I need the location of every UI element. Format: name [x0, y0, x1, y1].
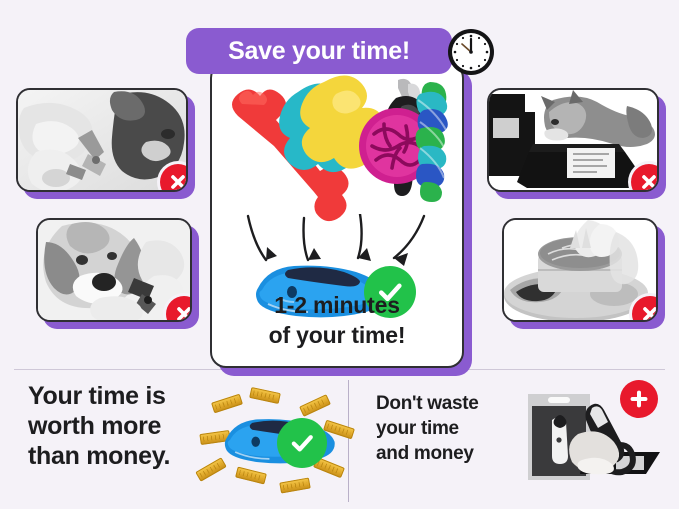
bottom-right-caption: Don't waste your time and money [376, 391, 479, 466]
close-icon [174, 304, 192, 322]
center-card-caption: 1-2 minutes of your time! [212, 290, 462, 350]
bottom-right-line2: your time [376, 416, 479, 441]
green-check-icon [288, 429, 316, 457]
gold-money-bill [279, 477, 310, 493]
close-icon [640, 304, 658, 322]
photo-card-top-right [487, 88, 659, 192]
multicolor-rope-toy [408, 78, 462, 202]
center-card: 1-2 minutes of your time! [210, 62, 464, 368]
analog-clock-icon [446, 27, 496, 77]
bottom-left-line1: Your time is [28, 381, 170, 411]
photo-card-bottom-right [502, 218, 658, 322]
infographic-canvas: 1-2 minutes of your time! Save your time… [0, 0, 679, 509]
bottom-left-caption: Your time is worth more than money. [28, 381, 170, 471]
bottom-right-line3: and money [376, 441, 479, 466]
title-banner: Save your time! [186, 28, 452, 74]
bottom-left-line3: than money. [28, 441, 170, 471]
bottom-right-line1: Don't waste [376, 391, 479, 416]
photo-card-bottom-left [36, 218, 192, 322]
center-caption-line1: 1-2 minutes [212, 290, 462, 320]
gold-money-bill [249, 387, 281, 404]
page-title: Save your time! [228, 37, 410, 66]
plus-icon [628, 388, 650, 410]
green-check-badge-bottom [277, 418, 327, 468]
horizontal-divider [14, 369, 665, 370]
close-icon [639, 172, 659, 192]
gold-money-bill [235, 467, 267, 485]
close-icon [168, 172, 188, 192]
bottom-left-line2: worth more [28, 411, 170, 441]
gold-money-bill [211, 394, 243, 414]
photo-card-top-left [16, 88, 188, 192]
plus-badge-bottom-right [620, 380, 658, 418]
center-caption-line2: of your time! [212, 320, 462, 350]
vertical-divider [348, 380, 349, 502]
